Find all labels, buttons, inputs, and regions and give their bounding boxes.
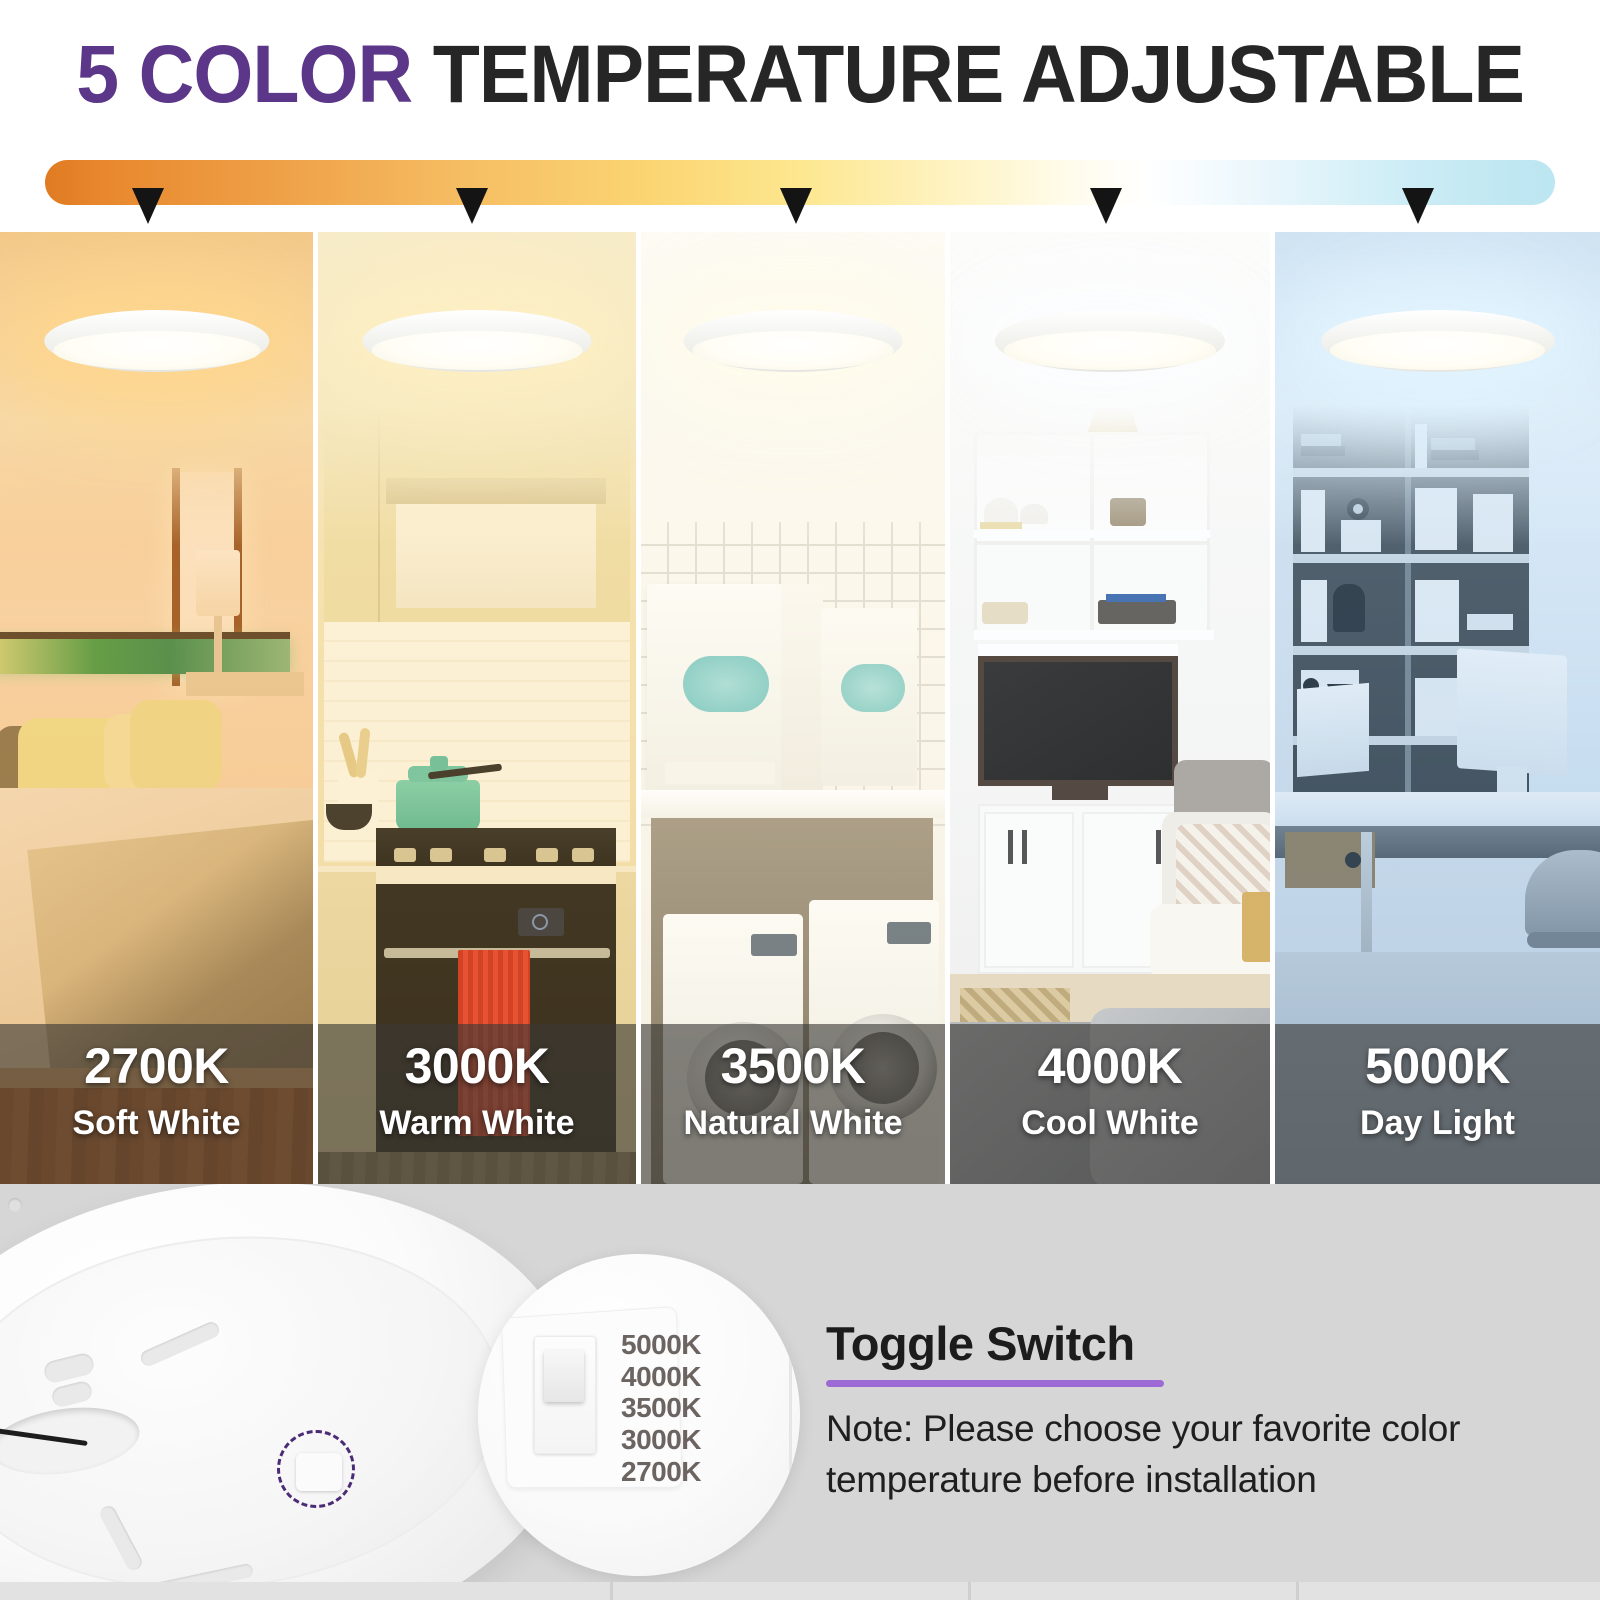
- section-divider: [0, 1582, 1600, 1600]
- temp-option-5000k: 5000K: [621, 1329, 781, 1361]
- scale-marker-4000k: [1090, 188, 1122, 224]
- toggle-switch-closeup: 5000K 4000K 3500K 3000K 2700K: [478, 1254, 800, 1576]
- ceiling-light-fixture-4000k: [995, 310, 1225, 372]
- ceiling-light-fixture-2700k: [44, 310, 269, 372]
- panel-name: Day Light: [1360, 1101, 1515, 1145]
- scale-marker-3000k: [456, 188, 488, 224]
- divider-tick-3: [1296, 1582, 1299, 1600]
- switch-location-marker: [277, 1430, 355, 1508]
- ceiling-light-fixture-5000k: [1321, 310, 1555, 372]
- page-header: 5 COLOR TEMPERATURE ADJUSTABLE: [0, 0, 1600, 150]
- divider-tick-1: [610, 1582, 613, 1600]
- panel-label-3500k: 3500K Natural White: [641, 1024, 945, 1184]
- temp-option-2700k: 2700K: [621, 1456, 781, 1488]
- plate-edge-highlight: [789, 1346, 792, 1496]
- panel-label-3000k: 3000K Warm White: [318, 1024, 636, 1184]
- scene-panel-3500k[interactable]: 3500K Natural White: [636, 232, 945, 1184]
- temp-option-3500k: 3500K: [621, 1392, 781, 1424]
- scene-panel-5000k[interactable]: 5000K Day Light: [1270, 232, 1600, 1184]
- toggle-switch-heading: Toggle Switch: [826, 1318, 1546, 1370]
- panel-name: Soft White: [72, 1101, 240, 1145]
- ceiling-5000k: [1275, 232, 1600, 546]
- ceiling-3500k: [641, 232, 945, 546]
- scale-marker-2700k: [132, 188, 164, 224]
- ceiling-3000k: [318, 232, 636, 546]
- scene-panel-2700k[interactable]: 2700K Soft White: [0, 232, 313, 1184]
- page-title-highlight: 5 COLOR: [76, 29, 412, 120]
- scale-marker-3500k: [780, 188, 812, 224]
- panel-kelvin: 2700K: [84, 1040, 229, 1093]
- panel-kelvin: 3000K: [405, 1040, 550, 1093]
- panel-label-4000k: 4000K Cool White: [950, 1024, 1270, 1184]
- panel-label-5000k: 5000K Day Light: [1275, 1024, 1600, 1184]
- scene-panel-4000k[interactable]: 4000K Cool White: [945, 232, 1270, 1184]
- panel-kelvin: 5000K: [1365, 1040, 1510, 1093]
- panel-name: Natural White: [683, 1101, 902, 1145]
- ceiling-2700k: [0, 232, 313, 546]
- page-title: 5 COLOR TEMPERATURE ADJUSTABLE: [76, 34, 1524, 116]
- heading-underline: [826, 1380, 1164, 1387]
- temp-option-3000k: 3000K: [621, 1424, 781, 1456]
- panel-kelvin: 3500K: [721, 1040, 866, 1093]
- switch-nub: [296, 1453, 342, 1491]
- ceiling-4000k: [950, 232, 1270, 546]
- toggle-switch-text-block: Toggle Switch Note: Please choose your f…: [826, 1318, 1546, 1505]
- color-temperature-scale: [0, 152, 1600, 230]
- ceiling-light-fixture-3000k: [363, 310, 592, 372]
- divider-tick-2: [968, 1582, 971, 1600]
- scale-marker-5000k: [1402, 188, 1434, 224]
- panel-kelvin: 4000K: [1038, 1040, 1183, 1093]
- panel-name: Warm White: [379, 1101, 574, 1145]
- toggle-switch-note: Note: Please choose your favorite color …: [826, 1403, 1546, 1505]
- ceiling-light-fixture-3500k: [684, 310, 903, 372]
- scene-panel-row: 2700K Soft White: [0, 232, 1600, 1184]
- temperature-option-list: 5000K 4000K 3500K 3000K 2700K: [621, 1329, 781, 1487]
- page-title-rest: TEMPERATURE ADJUSTABLE: [412, 29, 1524, 120]
- scene-panel-3000k[interactable]: 3000K Warm White: [313, 232, 636, 1184]
- temp-option-4000k: 4000K: [621, 1361, 781, 1393]
- switch-lever[interactable]: [544, 1350, 584, 1402]
- screw-2: [8, 1198, 22, 1212]
- panel-name: Cool White: [1021, 1101, 1199, 1145]
- toggle-switch-section: 5000K 4000K 3500K 3000K 2700K Toggle Swi…: [0, 1184, 1600, 1600]
- panel-label-2700k: 2700K Soft White: [0, 1024, 313, 1184]
